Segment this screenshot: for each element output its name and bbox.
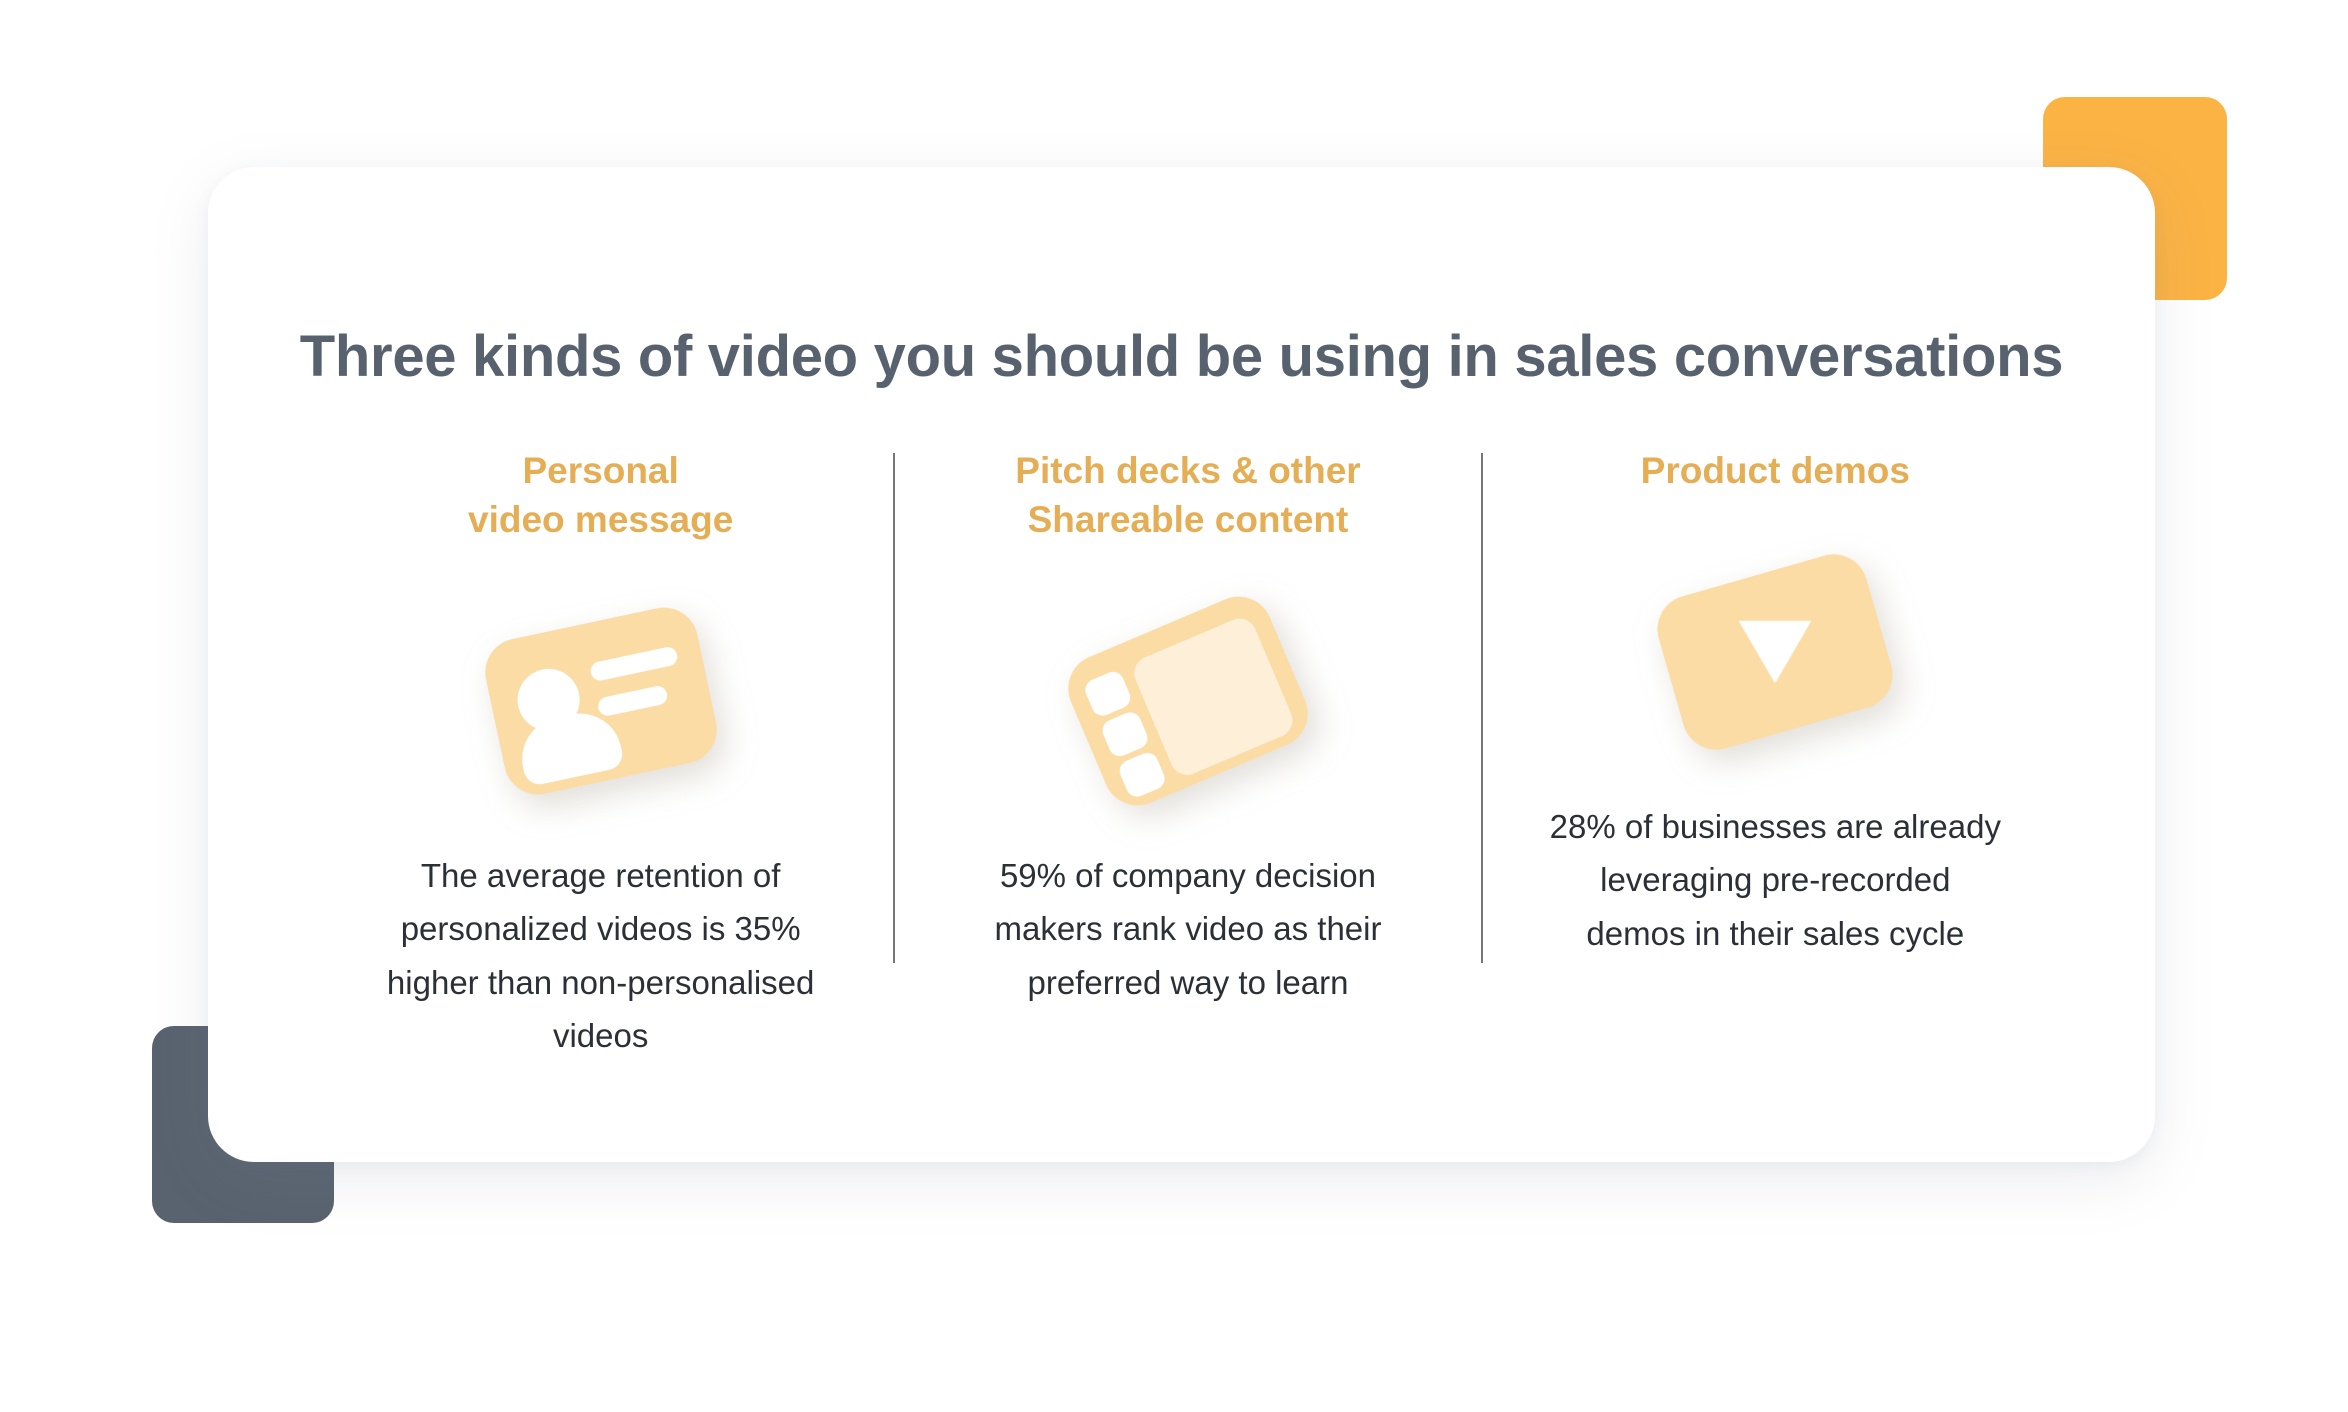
column-heading: Product demos xyxy=(1641,447,1910,496)
icon-container xyxy=(1507,522,2044,782)
icon-container xyxy=(919,571,1456,831)
column-pitch-decks: Pitch decks & other Shareable content 59… xyxy=(895,447,1480,1009)
icon-container xyxy=(332,571,869,831)
slide-deck-card-icon xyxy=(1058,586,1319,816)
column-heading: Pitch decks & other Shareable content xyxy=(1015,447,1360,545)
slide-thumbnail-1 xyxy=(1082,668,1134,719)
column-body-text: The average retention of personalized vi… xyxy=(387,849,814,1063)
infographic-stage: Three kinds of video you should be using… xyxy=(0,0,2348,1412)
play-video-card-icon xyxy=(1650,546,1901,757)
column-heading: Personal video message xyxy=(468,447,733,545)
play-triangle-icon xyxy=(1739,621,1811,683)
columns-container: Personal video message The average reten… xyxy=(308,447,2068,1062)
column-body-text: 28% of businesses are already leveraging… xyxy=(1550,800,2001,960)
person-video-card-icon xyxy=(479,601,723,800)
page-title: Three kinds of video you should be using… xyxy=(208,323,2155,390)
column-product-demos: Product demos 28% of businesses are alre… xyxy=(1483,447,2068,960)
text-line-bar-bottom xyxy=(596,684,668,717)
slide-thumbnail-2 xyxy=(1099,709,1151,760)
column-personal-video-message: Personal video message The average reten… xyxy=(308,447,893,1062)
content-card: Three kinds of video you should be using… xyxy=(208,167,2155,1162)
text-line-bar-top xyxy=(589,645,679,682)
column-body-text: 59% of company decision makers rank vide… xyxy=(994,849,1381,1009)
slide-thumbnail-3 xyxy=(1116,749,1168,800)
